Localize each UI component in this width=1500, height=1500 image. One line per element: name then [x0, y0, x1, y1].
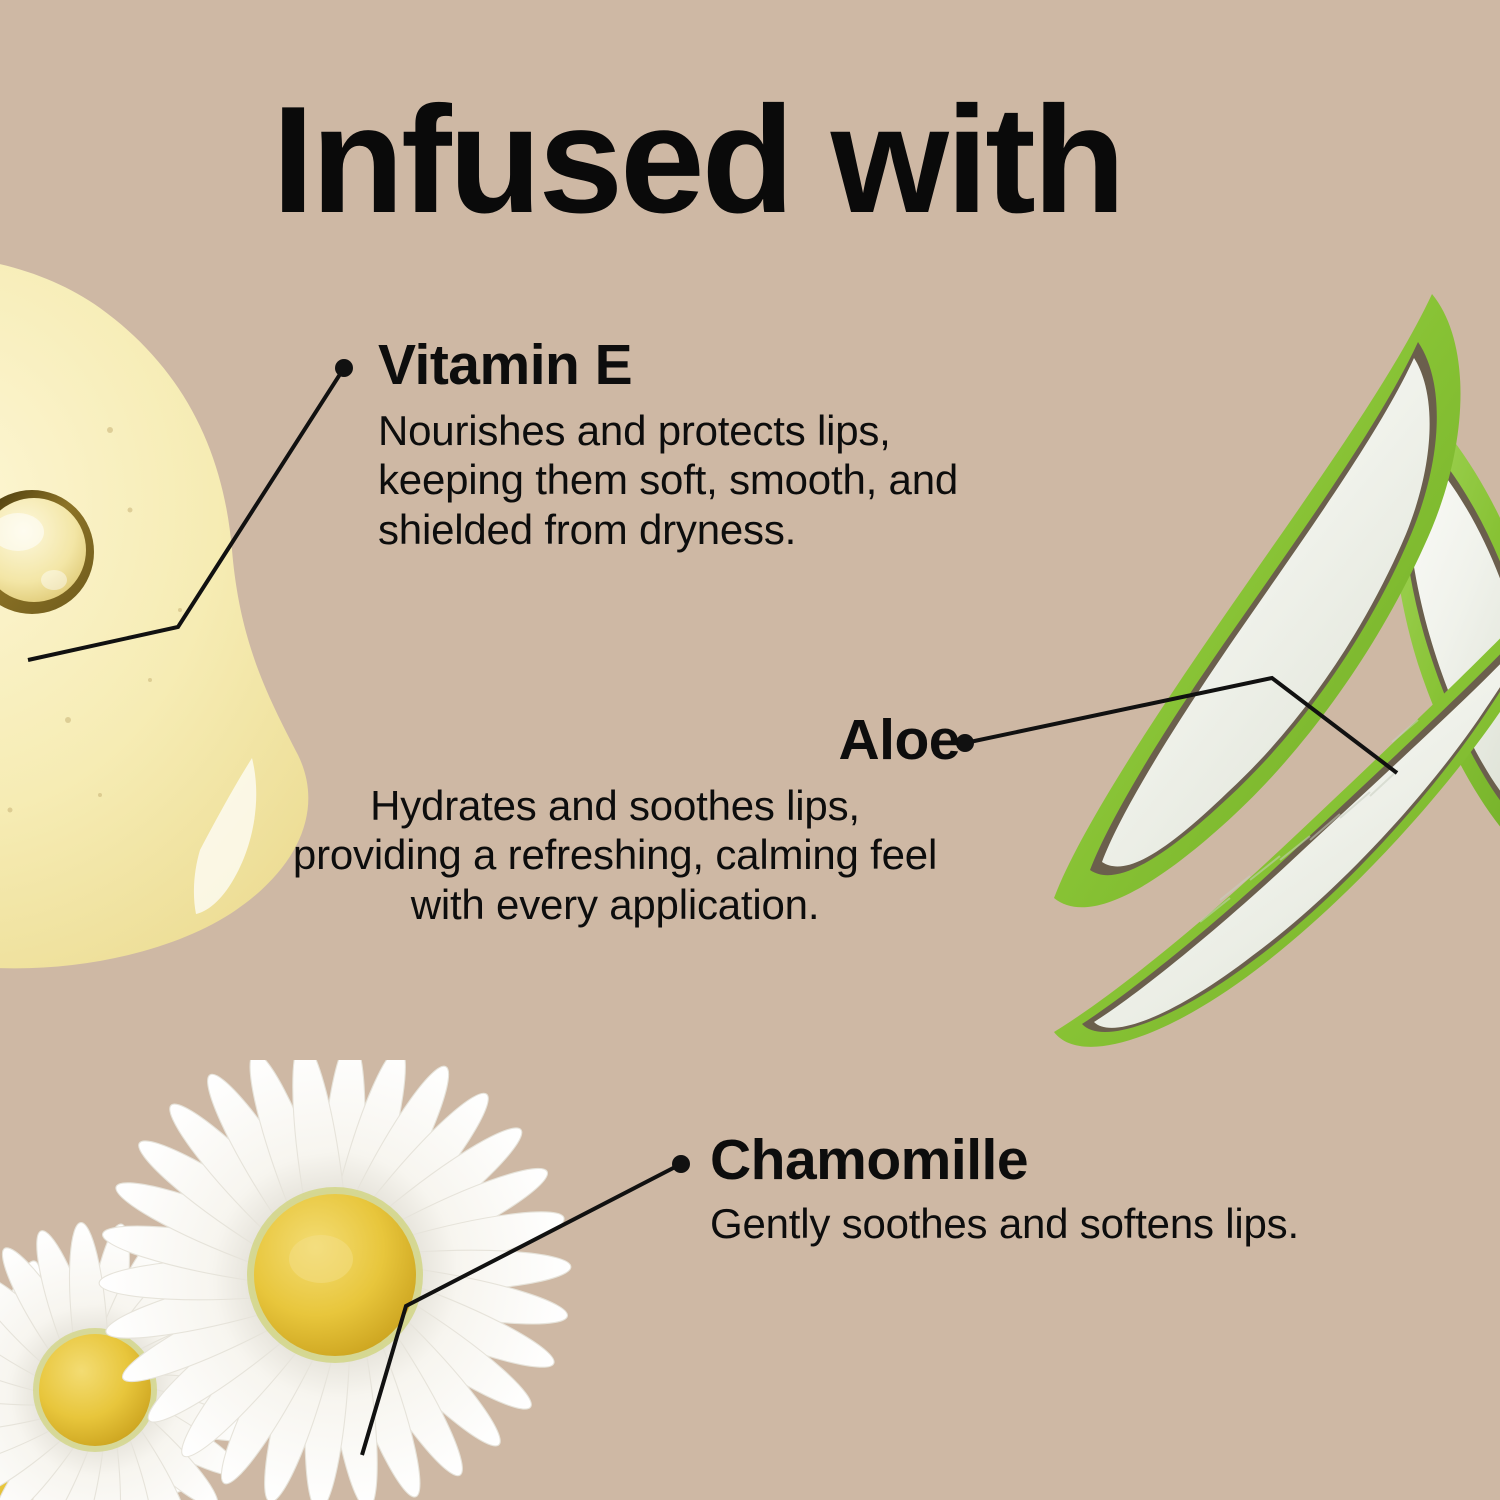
description-line: with every application. — [270, 880, 960, 929]
ingredient-description-chamomille: Gently soothes and softens lips. — [710, 1199, 1299, 1248]
description-line: Hydrates and soothes lips, — [270, 781, 960, 830]
description-line: Nourishes and protects lips, — [378, 406, 958, 455]
leader-dot-vitamin-e — [335, 359, 353, 377]
description-line: keeping them soft, smooth, and — [378, 455, 958, 504]
ingredient-block-aloe: Aloe Hydrates and soothes lips, providin… — [270, 711, 960, 929]
leader-line-chamomille — [362, 1155, 690, 1455]
leader-dot-chamomille — [672, 1155, 690, 1173]
ingredient-description-vitamin-e: Nourishes and protects lips, keeping the… — [378, 406, 958, 553]
ingredient-name-vitamin-e: Vitamin E — [378, 336, 958, 395]
ingredient-block-vitamin-e: Vitamin E Nourishes and protects lips, k… — [378, 336, 958, 554]
ingredient-block-chamomille: Chamomille Gently soothes and softens li… — [710, 1131, 1299, 1248]
page-title: Infused with — [272, 84, 1123, 236]
description-line: providing a refreshing, calming feel — [270, 830, 960, 879]
description-line: shielded from dryness. — [378, 505, 958, 554]
infographic-canvas: Infused with Vitamin E Nourishes and pro… — [0, 0, 1500, 1500]
description-line: Gently soothes and softens lips. — [710, 1199, 1299, 1248]
leader-line-vitamin-e — [28, 359, 353, 660]
ingredient-name-aloe: Aloe — [270, 711, 960, 770]
leader-line-aloe — [956, 678, 1397, 773]
ingredient-name-chamomille: Chamomille — [710, 1131, 1299, 1190]
ingredient-description-aloe: Hydrates and soothes lips, providing a r… — [270, 781, 960, 928]
